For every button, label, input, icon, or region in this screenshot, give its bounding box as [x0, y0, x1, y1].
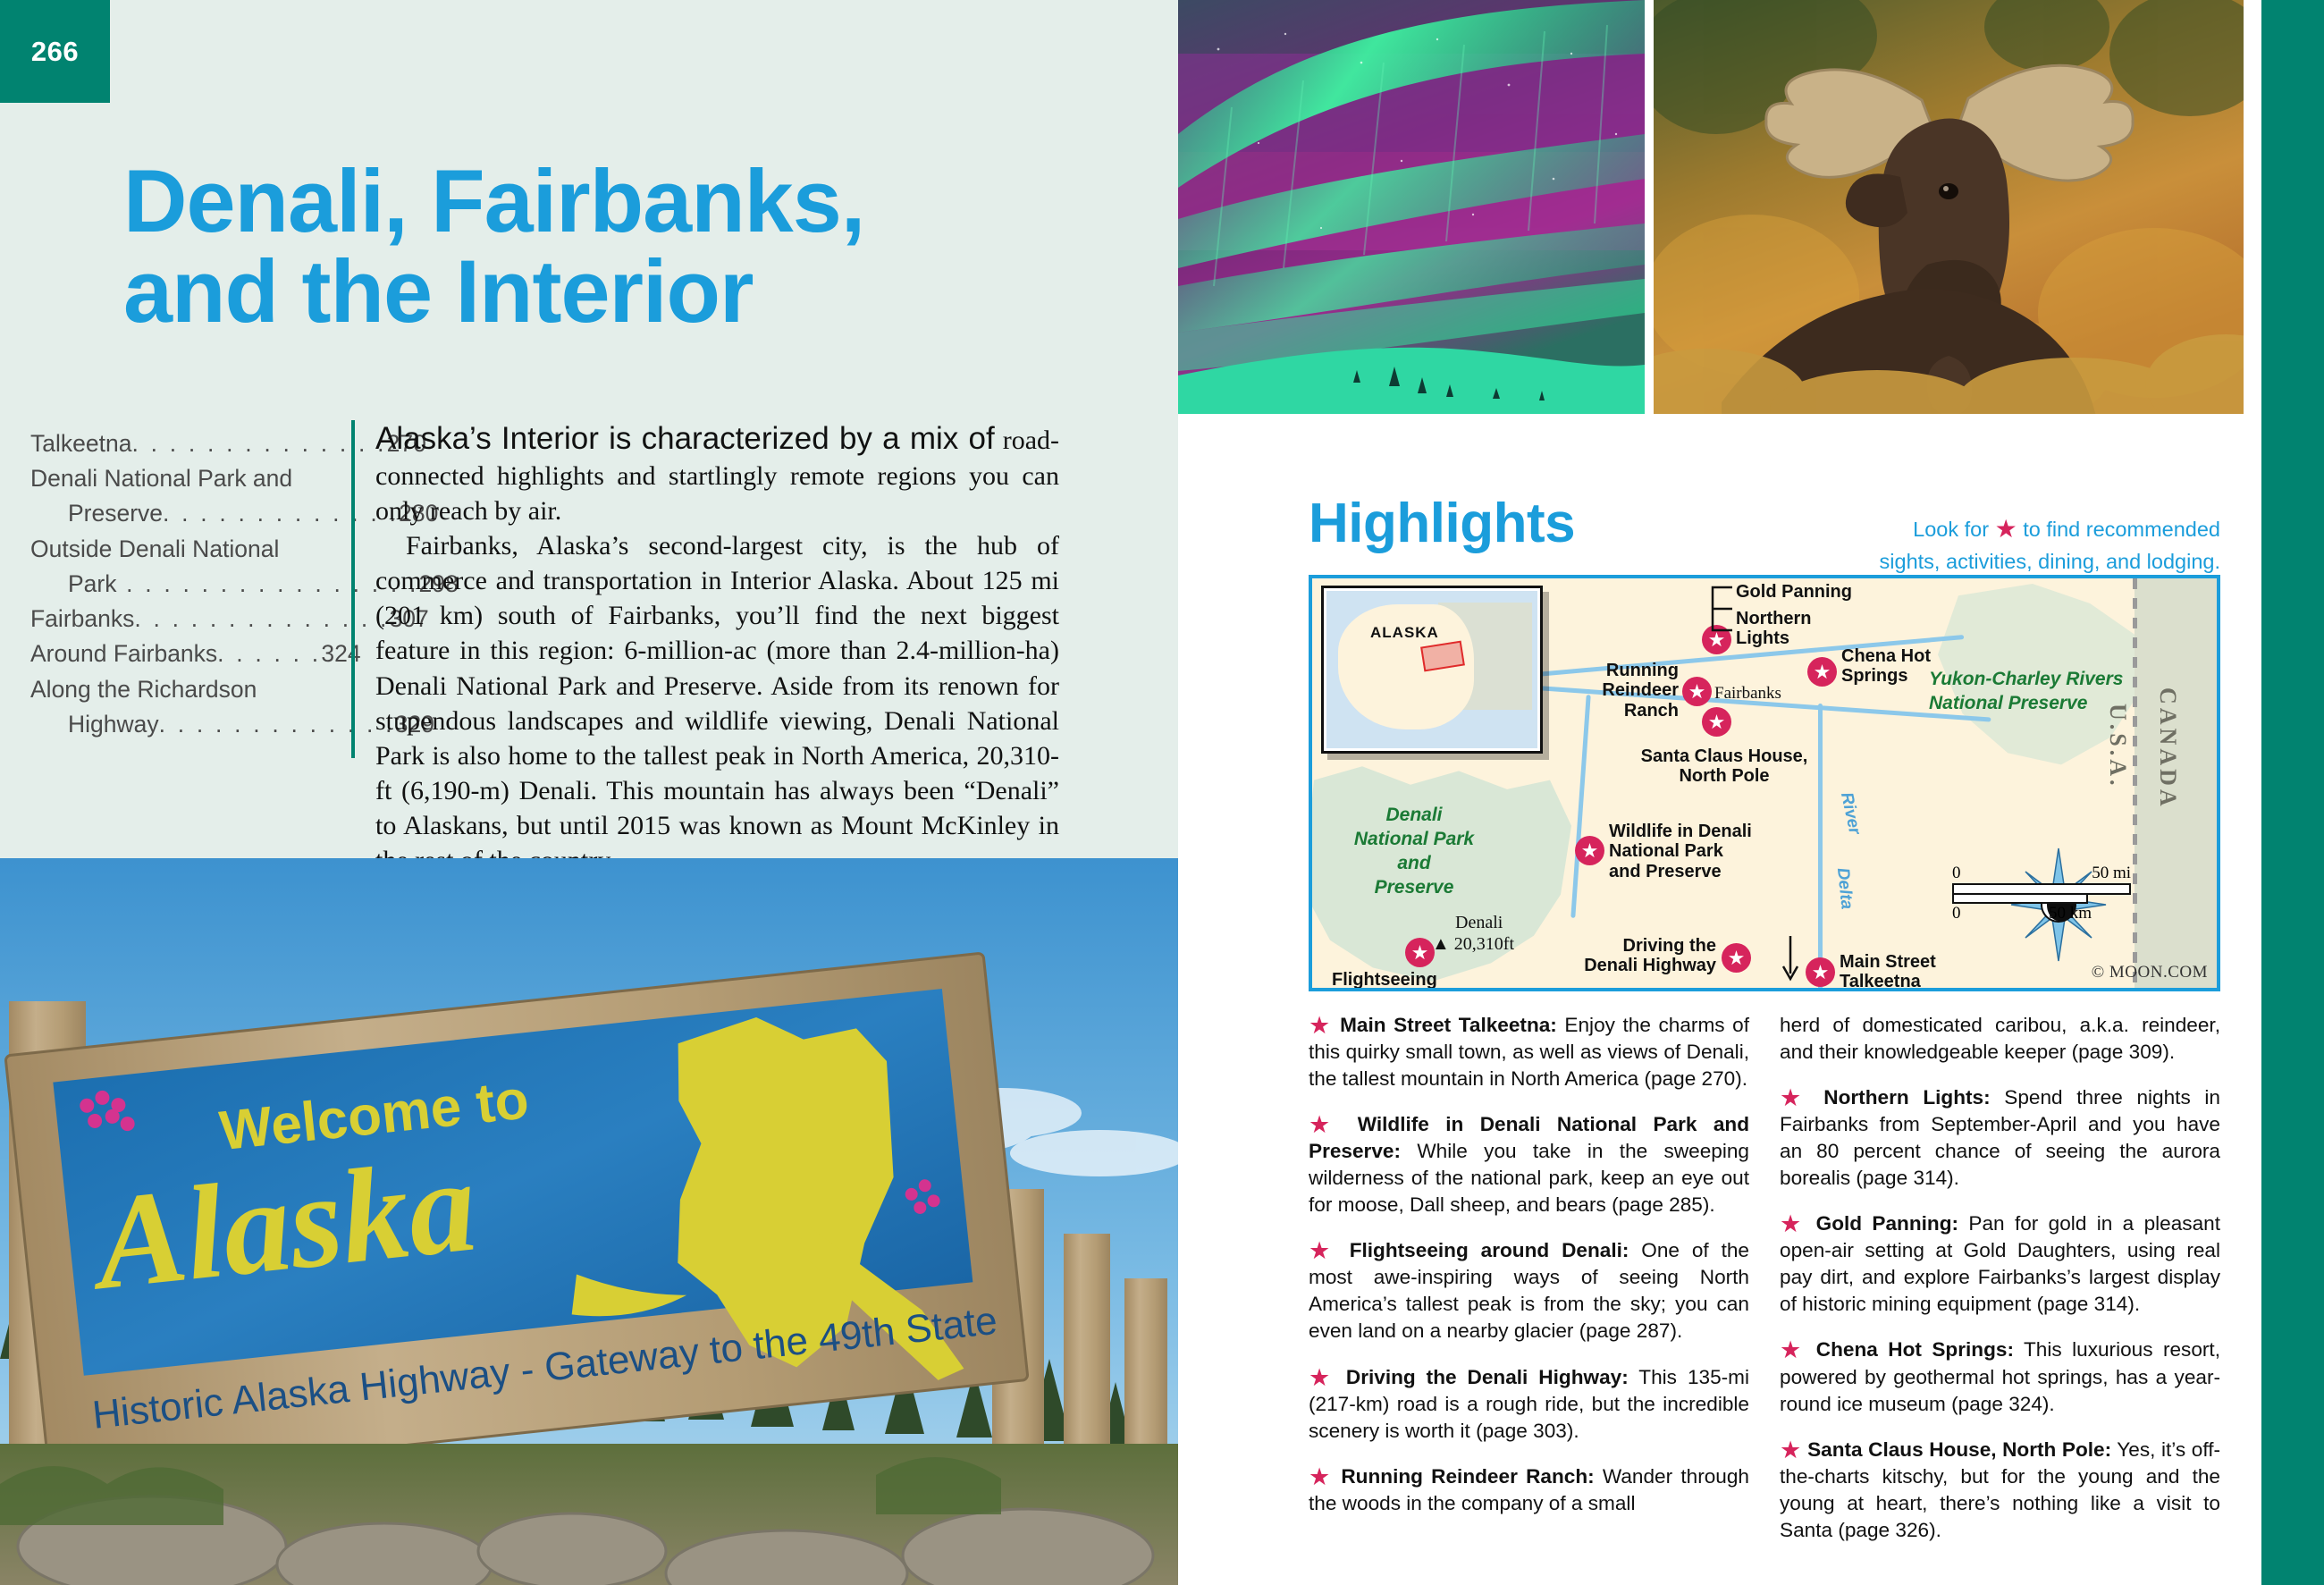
- map-scale-bar: 0 50 mi 0 50 km: [1952, 864, 2131, 923]
- highlights-column-right: herd of domesticated caribou, a.k.a. rei…: [1780, 1012, 2220, 1566]
- left-page: 266 Denali, Fairbanks, and the Interior …: [0, 0, 1178, 1585]
- highlight-entry-left-2: ★ Flightseeing around Denali: One of the…: [1309, 1237, 1749, 1345]
- lookfor-text-1: Look for: [1913, 518, 1989, 541]
- alaska-welcome-sign-photo: Welcome to Alaska Historic Alaska Highwa…: [0, 858, 1178, 1585]
- toc-item-label: Talkeetna: [30, 430, 131, 457]
- park-label-line1: Denali: [1385, 805, 1442, 825]
- toc-leader-dots: . . . . . . . . . . . . . . . .: [117, 570, 419, 597]
- highlight-entry-right-3: ★ Chena Hot Springs: This luxurious reso…: [1780, 1336, 2220, 1417]
- scale-mi-max: 50 mi: [2092, 864, 2131, 883]
- fs-line2: around Denali: [1332, 990, 1451, 991]
- wd-line1: Wildlife in Denali: [1609, 822, 1752, 841]
- scale-mi-zero: 0: [1952, 864, 1961, 883]
- highlight-entry-left-4: ★ Running Reindeer Ranch: Wander through…: [1309, 1463, 1749, 1517]
- highlight-entry-right-2: ★ Gold Panning: Pan for gold in a pleasa…: [1780, 1210, 2220, 1318]
- star-icon: ★: [1780, 1437, 1802, 1463]
- arrow-down-icon: [1781, 936, 1800, 982]
- highlight-entry-name: Northern Lights:: [1823, 1086, 1990, 1109]
- park-label-line2: National Park: [1354, 829, 1474, 849]
- chs-line2: Springs: [1841, 666, 1907, 686]
- ddh-line2: Denali Highway: [1584, 956, 1716, 975]
- scale-km-zero: 0: [1952, 904, 1961, 923]
- intro-lead: Alaska’s Interior is characterized by a …: [375, 421, 995, 456]
- map-label-northern-lights: Northern Lights: [1736, 609, 1811, 649]
- aurora-photo: [1178, 0, 1645, 414]
- scale-km-max: 50 km: [2049, 904, 2092, 923]
- toc-divider-rule: [351, 420, 355, 758]
- map-label-main-street-talkeetna: Main Street Talkeetna: [1840, 952, 1936, 991]
- aurora-illustration: [1178, 0, 1645, 414]
- park-label-line3: and: [1397, 853, 1430, 873]
- fs-line1: Flightseeing: [1332, 970, 1437, 990]
- toc-item-label: Along the Richardson: [30, 676, 257, 703]
- map-label-running-reindeer-ranch: Running Reindeer Ranch: [1586, 661, 1679, 721]
- star-icon: ★: [1309, 1237, 1337, 1264]
- toc-item-label: Fairbanks: [30, 605, 134, 632]
- sch-line2: North Pole: [1679, 766, 1769, 786]
- toc-item-4[interactable]: Park . . . . . . . . . . . . . . . .298: [30, 567, 325, 602]
- toc-item-6[interactable]: Around Fairbanks. . . . . .324: [30, 637, 325, 671]
- map-marker-chena-hot-springs[interactable]: ★: [1807, 657, 1837, 687]
- nl-line1: Northern: [1736, 609, 1811, 628]
- wd-line2: National Park: [1609, 841, 1723, 861]
- usa-label: U.S.A.: [2104, 704, 2131, 789]
- preserve-label-line1: Yukon-Charley Rivers: [1929, 669, 2123, 689]
- highlight-entry-left-1: ★ Wildlife in Denali National Park and P…: [1309, 1111, 1749, 1218]
- toc-item-7[interactable]: Along the Richardson: [30, 672, 325, 707]
- alaska-locator-inset: ALASKA: [1321, 586, 1543, 754]
- star-icon: ★: [1309, 1111, 1341, 1138]
- rrr-line2: Reindeer: [1602, 680, 1679, 700]
- us-canada-border: [2133, 578, 2137, 991]
- highlight-entry-right-1: ★ Northern Lights: Spend three nights in…: [1780, 1084, 2220, 1192]
- rrr-line1: Running: [1606, 661, 1679, 680]
- star-icon: ★: [1309, 1012, 1333, 1039]
- star-icon: ★: [1780, 1084, 1810, 1111]
- highlight-entry-name: Gold Panning:: [1816, 1212, 1958, 1235]
- map-label-wildlife-denali: Wildlife in Denali National Park and Pre…: [1609, 822, 1752, 881]
- moose-illustration: [1654, 0, 2244, 414]
- toc-item-label: Outside Denali National: [30, 535, 279, 562]
- mst-line2: Talkeetna: [1840, 972, 1921, 991]
- highlight-entry-left-3: ★ Driving the Denali Highway: This 135-m…: [1309, 1364, 1749, 1445]
- map-label-gold-panning: Gold Panning: [1736, 582, 1852, 602]
- map-marker-running-reindeer-ranch[interactable]: ★: [1682, 677, 1712, 706]
- highlight-entry-left-0: ★ Main Street Talkeetna: Enjoy the charm…: [1309, 1012, 1749, 1092]
- sch-line1: Santa Claus House,: [1641, 746, 1808, 766]
- toc-item-label: Around Fairbanks: [30, 640, 217, 667]
- map-marker-main-street-talkeetna[interactable]: ★: [1806, 957, 1835, 987]
- peak-elevation: 20,310ft: [1454, 934, 1514, 954]
- highlight-entry-text: herd of domesticated caribou, a.k.a. rei…: [1780, 1014, 2220, 1063]
- scale-bar-miles: [1952, 883, 2131, 895]
- map-label-santa-claus-house: Santa Claus House, North Pole: [1612, 746, 1836, 787]
- page-number: 266: [31, 36, 79, 68]
- toc-item-1[interactable]: Denali National Park and: [30, 461, 325, 496]
- toc-item-5[interactable]: Fairbanks. . . . . . . . . . . . . .307: [30, 602, 325, 637]
- leader-line-icon: [1698, 584, 1734, 634]
- toc-leader-dots: . . . . . .: [217, 640, 321, 667]
- map-label-driving-denali-highway: Driving the Denali Highway: [1577, 936, 1716, 976]
- star-icon: ★: [1780, 1336, 1806, 1363]
- book-page-spread: 266 Denali, Fairbanks, and the Interior …: [0, 0, 2324, 1585]
- toc-item-3[interactable]: Outside Denali National: [30, 532, 325, 567]
- star-icon: ★: [1309, 1364, 1335, 1391]
- inset-alaska-label: ALASKA: [1370, 624, 1439, 642]
- peak-name: Denali: [1455, 913, 1503, 932]
- map-marker-flightseeing[interactable]: ★: [1405, 938, 1435, 967]
- map-marker-wildlife-denali[interactable]: ★: [1575, 836, 1604, 865]
- river-nenana: [1570, 695, 1590, 918]
- toc-item-label: Denali National Park and: [30, 465, 292, 492]
- toc-leader-dots: . . . . . . . . . . . . .: [163, 500, 399, 527]
- denali-park-label: Denali National Park and Preserve: [1334, 804, 1495, 900]
- highlight-entry-right-4: ★ Santa Claus House, North Pole: Yes, it…: [1780, 1437, 2220, 1544]
- highlights-legend: Look for ★ to find recommended sights, a…: [1804, 511, 2220, 577]
- page-number-badge: 266: [0, 0, 110, 103]
- highlight-entry-name: Flightseeing around Denali:: [1350, 1239, 1629, 1261]
- denali-peak-label: Denali: [1455, 913, 1503, 933]
- star-icon: ★: [1780, 1210, 1806, 1237]
- toc-item-label: Park: [68, 570, 117, 597]
- toc-item-8[interactable]: Highway. . . . . . . . . . . . .329: [30, 707, 325, 742]
- star-icon: ★: [1309, 1463, 1333, 1490]
- delta-river-label-line2: Delta: [1832, 867, 1857, 911]
- toc-item-label: Preserve: [68, 500, 163, 527]
- intro-paragraph-2: Fairbanks, Alaska’s second-largest city,…: [375, 528, 1059, 878]
- denali-peak-elevation: ▲ 20,310ft: [1432, 934, 1514, 955]
- toc-item-2[interactable]: Preserve. . . . . . . . . . . . .280: [30, 496, 325, 531]
- toc-item-0[interactable]: Talkeetna. . . . . . . . . . . . . .270: [30, 426, 325, 461]
- highlights-entry-columns: ★ Main Street Talkeetna: Enjoy the charm…: [1309, 1012, 2220, 1566]
- star-icon: ★: [1995, 515, 2017, 543]
- map-label-flightseeing: Flightseeing around Denali: [1332, 970, 1451, 991]
- map-label-chena-hot-springs: Chena Hot Springs: [1841, 646, 1931, 687]
- page-title: Denali, Fairbanks, and the Interior: [123, 156, 1098, 337]
- map-credit: © MOON.COM: [2092, 963, 2208, 982]
- ddh-line1: Driving the: [1623, 936, 1716, 956]
- map-marker-driving-denali-highway[interactable]: ★: [1722, 943, 1751, 973]
- sign-photo-illustration: Welcome to Alaska Historic Alaska Highwa…: [0, 858, 1178, 1585]
- highlights-column-left: ★ Main Street Talkeetna: Enjoy the charm…: [1309, 1012, 1749, 1566]
- moose-photo: [1654, 0, 2244, 414]
- highlight-entry-name: Driving the Denali Highway:: [1346, 1366, 1629, 1388]
- highlight-entry-right-0: herd of domesticated caribou, a.k.a. rei…: [1780, 1012, 2220, 1066]
- canada-label: CANADA: [2154, 687, 2181, 810]
- chapter-edge-tab: [2261, 0, 2324, 1585]
- highlight-entry-name: Running Reindeer Ranch:: [1341, 1465, 1594, 1488]
- table-of-contents: Talkeetna. . . . . . . . . . . . . .270D…: [30, 426, 325, 742]
- chapter-intro: Alaska’s Interior is characterized by a …: [375, 420, 1059, 878]
- wd-line3: and Preserve: [1609, 862, 1722, 881]
- lookfor-text-2: to find recommended: [2023, 518, 2220, 541]
- toc-leader-dots: . . . . . . . . . . . . .: [159, 711, 395, 738]
- fairbanks-city-label: Fairbanks: [1714, 684, 1781, 703]
- highlight-entry-name: Main Street Talkeetna:: [1340, 1014, 1557, 1036]
- highlights-map: ALASKA Denali National Park and Preserve…: [1309, 575, 2220, 991]
- highlight-entry-name: Santa Claus House, North Pole:: [1807, 1438, 2111, 1461]
- map-marker-santa-claus-house[interactable]: ★: [1702, 707, 1731, 737]
- park-label-line4: Preserve: [1375, 877, 1454, 898]
- toc-leader-dots: . . . . . . . . . . . . . .: [131, 430, 386, 457]
- right-page: Highlights Look for ★ to find recommende…: [1178, 0, 2324, 1585]
- preserve-label-line2: National Preserve: [1929, 693, 2087, 713]
- scale-bar-km: [1952, 895, 2088, 904]
- lookfor-text-3: sights, activities, dining, and lodging.: [1880, 550, 2220, 573]
- delta-river-label-line1: River: [1836, 790, 1864, 836]
- highlight-entry-name: Chena Hot Springs:: [1816, 1338, 2014, 1361]
- nl-line2: Lights: [1736, 628, 1789, 648]
- toc-item-label: Highway: [68, 711, 159, 738]
- chapter-title-line2: and the Interior: [123, 247, 1098, 337]
- mst-line1: Main Street: [1840, 952, 1936, 972]
- highlights-heading: Highlights: [1309, 492, 1575, 555]
- chs-line1: Chena Hot: [1841, 646, 1931, 666]
- chapter-title-line1: Denali, Fairbanks,: [123, 151, 864, 250]
- rrr-line3: Ranch: [1624, 701, 1679, 721]
